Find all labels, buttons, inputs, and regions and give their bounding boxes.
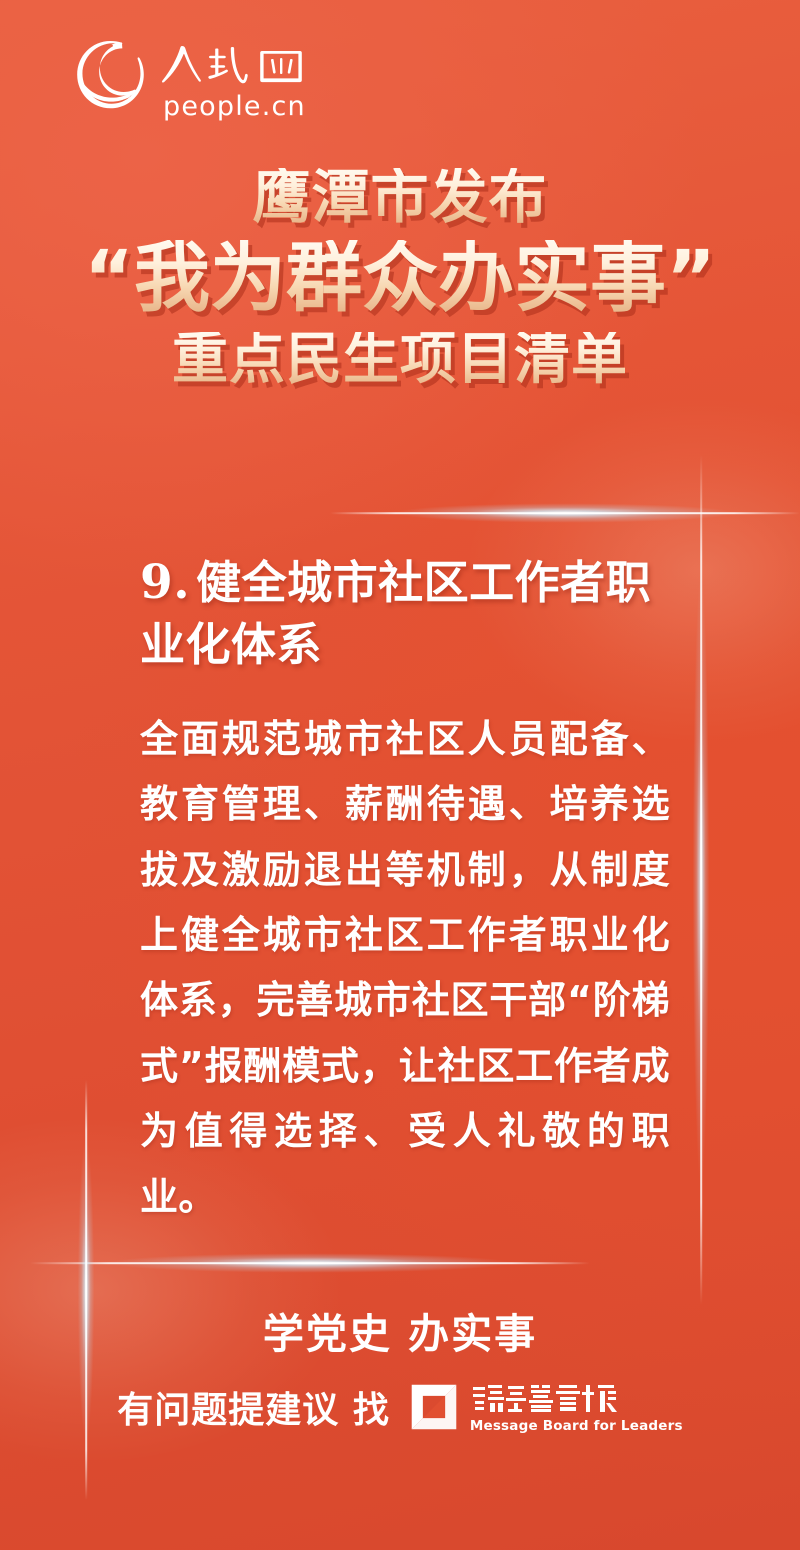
item-title: 健全城市社区工作者职业化体系 — [140, 556, 651, 671]
brand-latin-name: people.cn — [163, 93, 312, 120]
message-board-english-tagline: Message Board for Leaders — [470, 1420, 683, 1434]
item-description: 全面规范城市社区人员配备、教育管理、薪酬待遇、培养选拔及激励退出等机制，从制度上… — [140, 707, 670, 1230]
message-board-mark-icon — [408, 1381, 460, 1433]
brand-wordmark: people.cn — [160, 38, 312, 120]
headline-line-1: 鹰潭市发布 — [0, 168, 800, 226]
item-number: 9. — [140, 555, 190, 610]
people-cn-chinese-wordmark-icon — [160, 42, 312, 90]
people-cn-globe-icon — [72, 38, 146, 112]
footer-cta-row: 有问题提建议 找 — [0, 1381, 800, 1434]
item-title-block: 9.健全城市社区工作者职业化体系 — [140, 552, 680, 675]
footer-slogan: 学党史 办实事 — [0, 1310, 800, 1359]
message-board-chinese-wordmark-icon — [470, 1381, 640, 1415]
message-board-wordmark: Message Board for Leaders — [470, 1381, 683, 1434]
light-ray-vertical-upper — [690, 455, 712, 1305]
light-ray-horizontal-upper — [330, 500, 800, 526]
brand-logo[interactable]: people.cn — [72, 38, 312, 120]
footer-cta-text: 有问题提建议 找 — [117, 1381, 390, 1433]
poster-headline: 鹰潭市发布 “我为群众办实事” 重点民生项目清单 — [0, 168, 800, 388]
light-ray-horizontal-lower — [30, 1250, 590, 1276]
headline-line-3: 重点民生项目清单 — [0, 332, 800, 388]
headline-line-2: “我为群众办实事” — [0, 240, 800, 316]
message-board-logo[interactable]: Message Board for Leaders — [408, 1381, 683, 1434]
poster-canvas: people.cn 鹰潭市发布 “我为群众办实事” 重点民生项目清单 9.健全城… — [0, 0, 800, 1550]
light-ray-vertical-lower — [75, 1080, 97, 1500]
poster-footer: 学党史 办实事 有问题提建议 找 — [0, 1310, 800, 1434]
